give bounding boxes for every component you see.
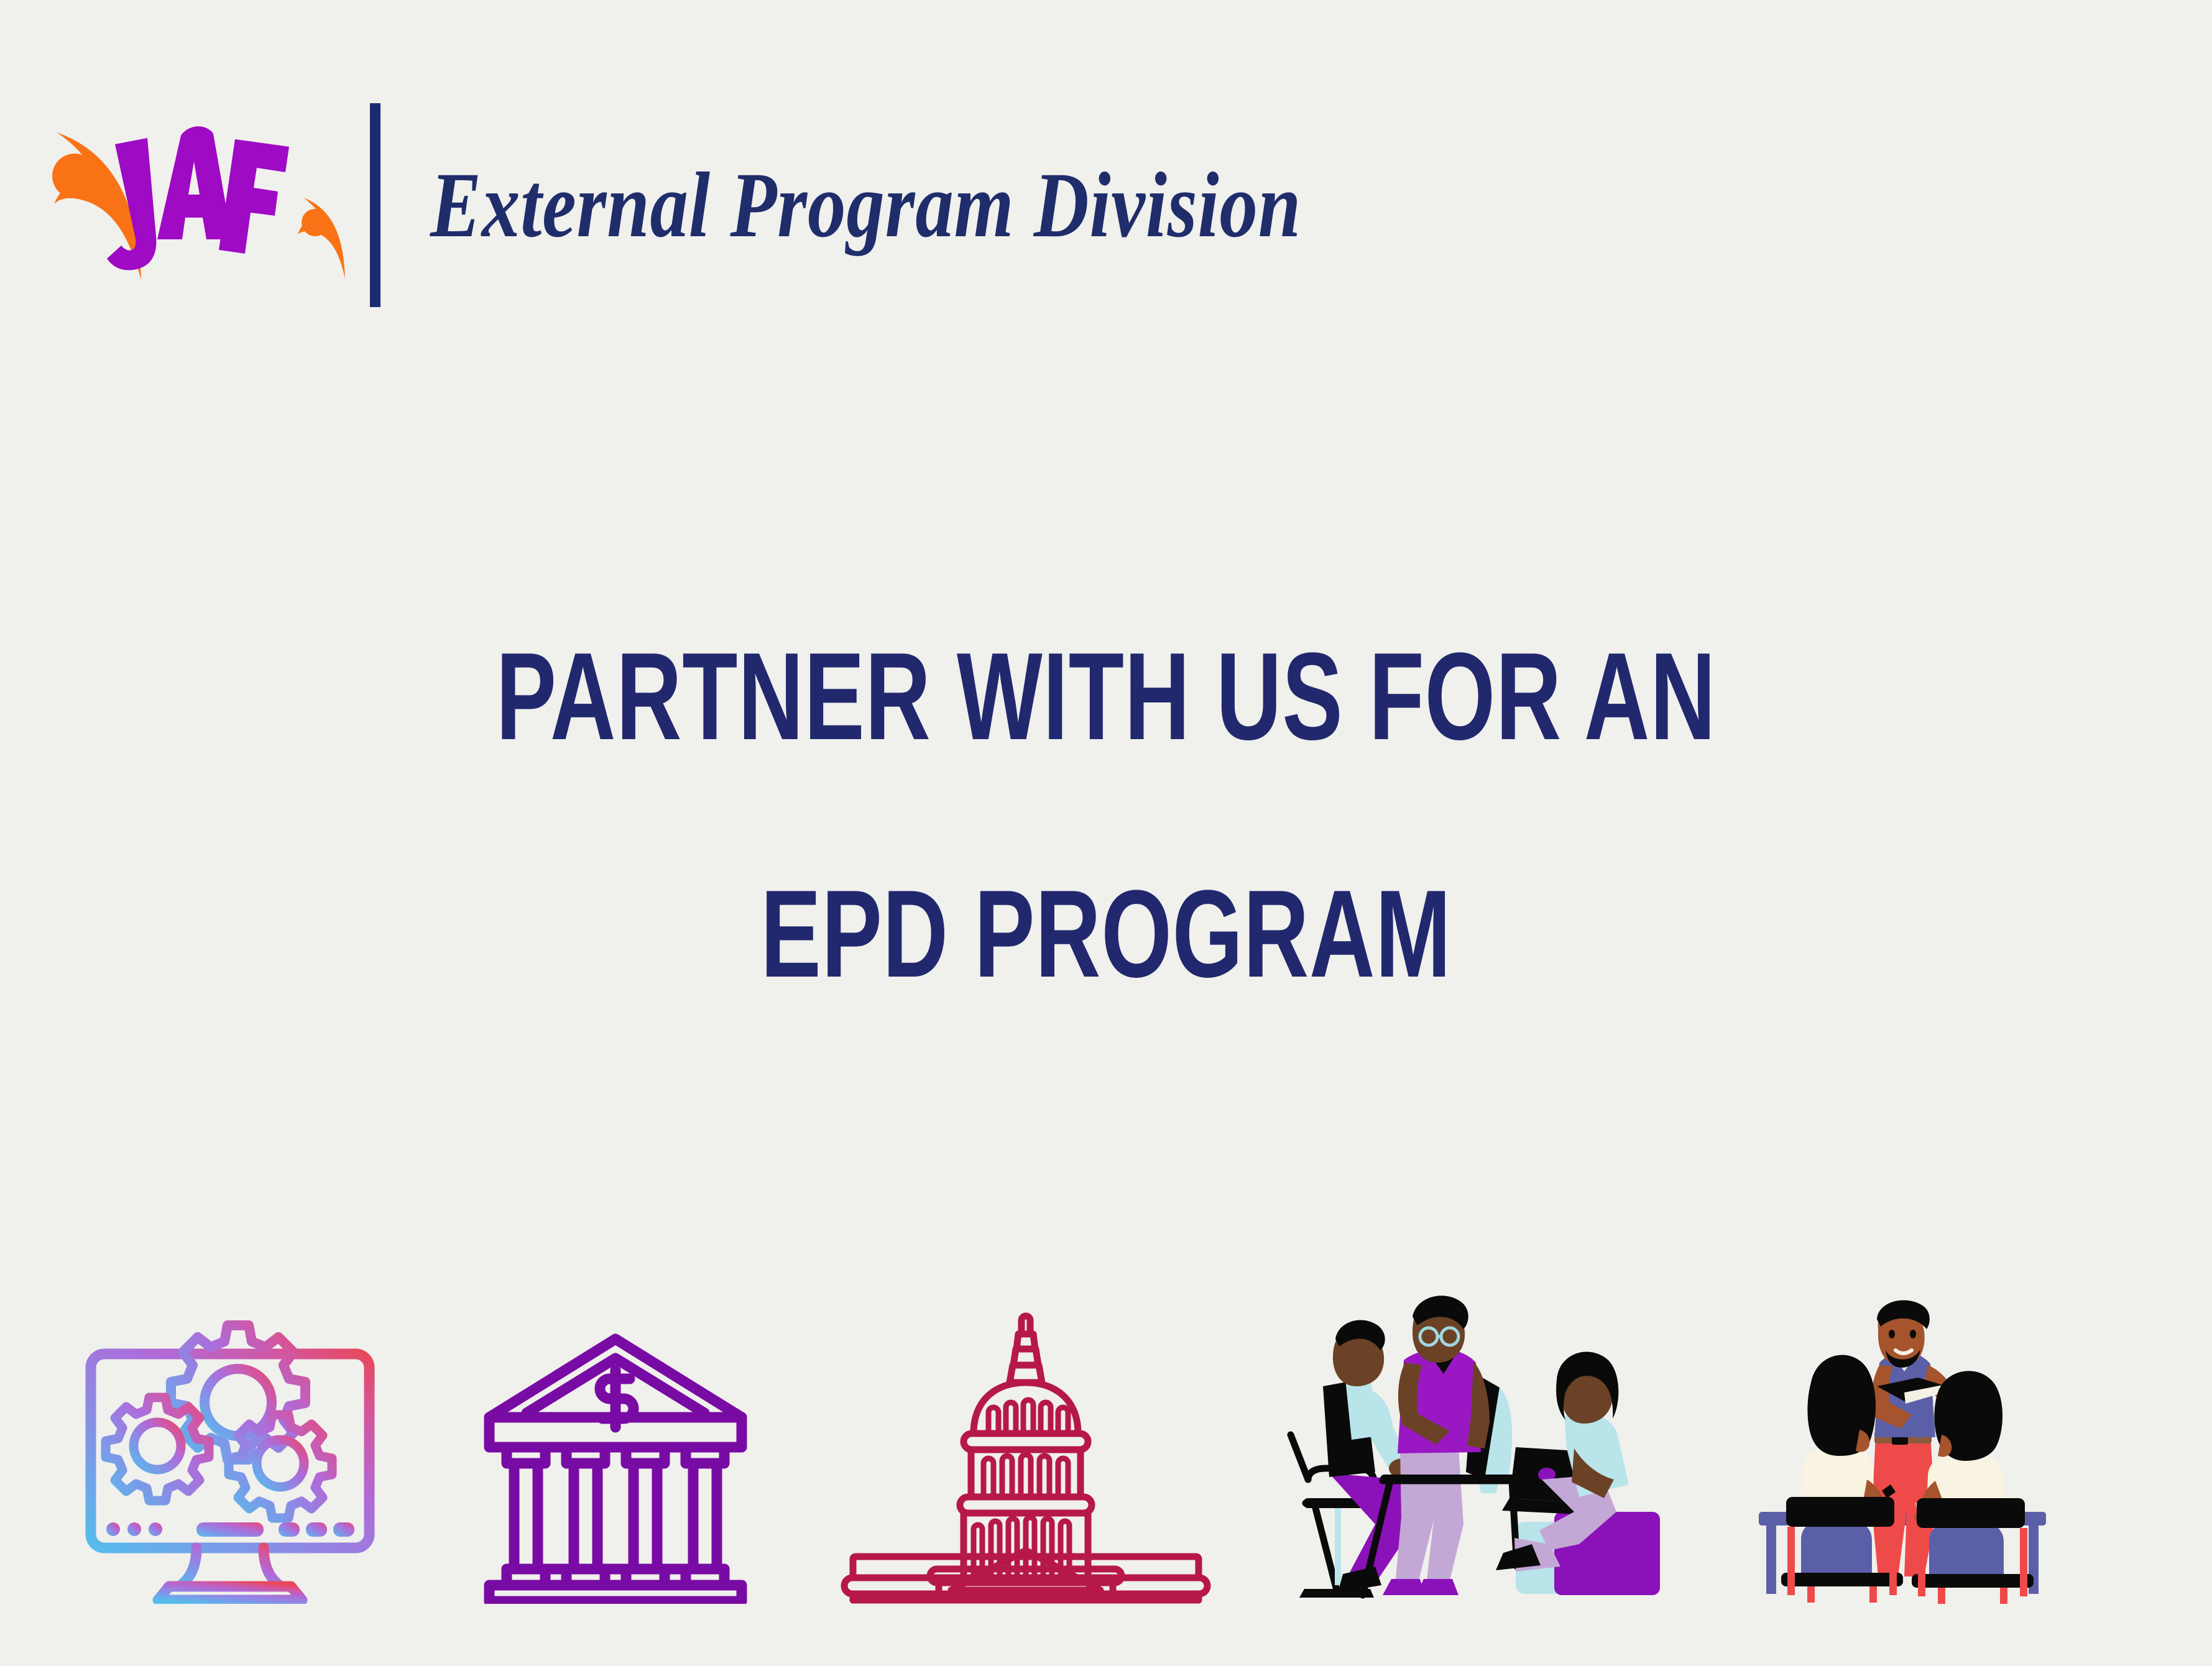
icon-cell-education [1703, 1256, 2101, 1604]
icon-cell-government [808, 1256, 1243, 1604]
headline-line-2: EPD PROGRAM [298, 868, 1913, 1000]
dollar-sign [600, 1370, 634, 1427]
header-title: External Program Division [430, 159, 1301, 252]
bank-dollar-icon [482, 1324, 749, 1604]
header-divider [370, 103, 380, 307]
headline-block: PARTNER WITH US FOR AN EPD PROGRAM [0, 631, 2212, 1000]
icon-cell-finance [423, 1256, 808, 1604]
header: External Program Division [34, 93, 1493, 317]
icon-cell-technology [37, 1256, 423, 1604]
orange-figure-right [298, 198, 345, 278]
monitor-gears-icon [75, 1305, 385, 1604]
team-collaboration-illustration [1268, 1293, 1679, 1604]
classroom-teaching-illustration [1738, 1293, 2067, 1604]
headline-line-1: PARTNER WITH US FOR AN [298, 631, 1913, 763]
icon-cell-collaboration [1243, 1256, 1703, 1604]
jaf-wordmark [107, 126, 289, 270]
capitol-building-icon [839, 1312, 1212, 1604]
icon-row [0, 1218, 2212, 1604]
person-standing-center [1383, 1296, 1490, 1595]
jaf-logo [34, 112, 351, 298]
